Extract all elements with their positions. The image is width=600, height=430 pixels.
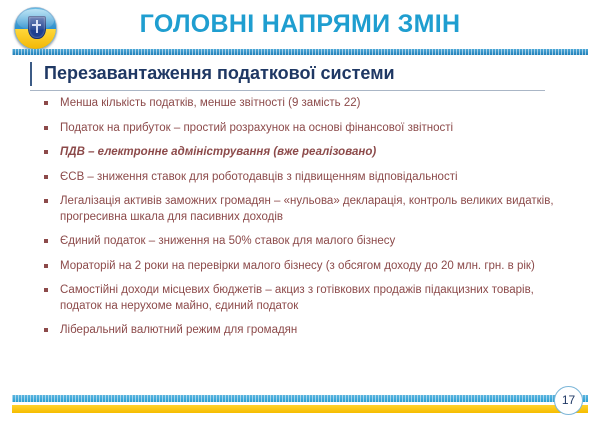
slide-subtitle-block: Перезавантаження податкової системи [30, 60, 550, 90]
bullet-marker-icon [44, 288, 48, 292]
list-item: ПДВ – електронне адміністрування (вже ре… [40, 145, 570, 161]
subtitle-accent-bar [30, 62, 32, 86]
footer-yellow-bar [12, 405, 588, 413]
list-item-text: Податок на прибуток – простий розрахунок… [60, 121, 570, 137]
bullet-list: Менша кількість податків, менше звітност… [40, 96, 570, 348]
list-item-text: Мораторій на 2 роки на перевірки малого … [60, 259, 570, 275]
list-item-text: Ліберальний валютний режим для громадян [60, 323, 570, 339]
list-item-text: Самостійні доходи місцевих бюджетів – ак… [60, 283, 570, 314]
slide-footer: 17 [0, 385, 600, 430]
list-item-text: Легалізація активів заможних громадян – … [60, 194, 570, 225]
list-item: Єдиний податок – зниження на 50% ставок … [40, 234, 570, 250]
bullet-marker-icon [44, 199, 48, 203]
list-item-text: ПДВ – електронне адміністрування (вже ре… [60, 145, 570, 161]
bullet-marker-icon [44, 175, 48, 179]
list-item: Легалізація активів заможних громадян – … [40, 194, 570, 225]
bullet-marker-icon [44, 264, 48, 268]
list-item: Мораторій на 2 роки на перевірки малого … [40, 259, 570, 275]
list-item: Ліберальний валютний режим для громадян [40, 323, 570, 339]
header-divider [12, 49, 588, 55]
list-item-text: ЄСВ – зниження ставок для роботодавців з… [60, 170, 570, 186]
slide-header: ГОЛОВНІ НАПРЯМИ ЗМІН [0, 0, 600, 56]
presentation-slide: ГОЛОВНІ НАПРЯМИ ЗМІН Перезавантаження по… [0, 0, 600, 430]
bullet-marker-icon [44, 150, 48, 154]
bullet-marker-icon [44, 126, 48, 130]
slide-subtitle: Перезавантаження податкової системи [44, 60, 395, 86]
bullet-marker-icon [44, 328, 48, 332]
list-item: Податок на прибуток – простий розрахунок… [40, 121, 570, 137]
bullet-marker-icon [44, 239, 48, 243]
list-item: ЄСВ – зниження ставок для роботодавців з… [40, 170, 570, 186]
list-item: Самостійні доходи місцевих бюджетів – ак… [40, 283, 570, 314]
footer-blue-bar [12, 395, 588, 402]
list-item-text: Менша кількість податків, менше звітност… [60, 96, 570, 112]
bullet-marker-icon [44, 101, 48, 105]
list-item-text: Єдиний податок – зниження на 50% ставок … [60, 234, 570, 250]
slide-title: ГОЛОВНІ НАПРЯМИ ЗМІН [0, 6, 600, 42]
subtitle-underline [30, 90, 545, 91]
list-item: Менша кількість податків, менше звітност… [40, 96, 570, 112]
page-number-badge: 17 [554, 386, 583, 415]
